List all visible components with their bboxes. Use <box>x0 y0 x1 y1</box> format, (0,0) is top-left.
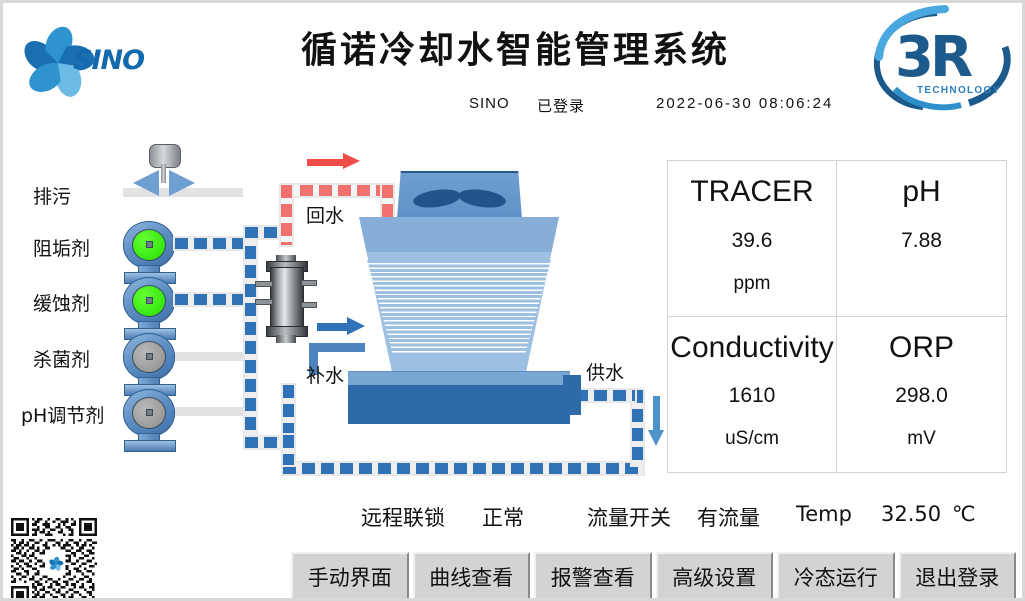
metric-unit: ppm <box>734 273 771 295</box>
dosing-line-scale <box>173 236 247 251</box>
valve-right-wing-icon <box>169 170 195 196</box>
application-window: SINO 循诺冷却水智能管理系统 SINO 已登录 2022-06-30 08:… <box>0 0 1025 601</box>
metric-name: pH <box>902 175 940 210</box>
label-makeup-water: 补水 <box>306 361 344 388</box>
metric-value: 1610 <box>729 384 776 408</box>
circuit-left-riser <box>243 225 258 439</box>
hx-bottom-stub-icon <box>276 335 296 343</box>
button-alarm-view[interactable]: 报警查看 <box>534 552 652 601</box>
temp-label: Temp <box>796 502 852 526</box>
return-line-top <box>279 183 395 198</box>
label-ph-adjuster: pH调节剂 <box>21 401 104 428</box>
button-manual-interface[interactable]: 手动界面 <box>291 552 409 601</box>
button-advanced-settings[interactable]: 高级设置 <box>656 552 774 601</box>
metric-value: 39.6 <box>732 229 773 253</box>
bottom-button-bar: 手动界面 曲线查看 报警查看 高级设置 冷态运行 退出登录 <box>291 552 1016 601</box>
metric-card-orp: ORP 298.0 mV <box>837 317 1006 473</box>
heat-exchanger[interactable] <box>261 255 311 345</box>
header-datetime: 2022-06-30 08:06:24 <box>656 95 833 112</box>
dosing-line-corrosion <box>173 292 247 307</box>
qr-center-logo <box>46 554 65 573</box>
status-bar: 远程联锁 正常 流量开关 有流量 Temp 32.50 ℃ <box>3 499 1025 535</box>
metric-unit: mV <box>907 428 936 450</box>
qr-code <box>8 518 100 601</box>
header-login-state: 已登录 <box>537 95 585 116</box>
pump-corrosion-inhibitor[interactable] <box>123 277 179 333</box>
label-supply-water: 供水 <box>586 358 624 385</box>
pump-base-icon <box>124 440 176 452</box>
metric-card-tracer: TRACER 39.6 ppm <box>668 161 837 317</box>
metric-value: 298.0 <box>895 384 948 408</box>
pump-biocide[interactable] <box>123 333 179 389</box>
valve-stem-icon <box>161 164 166 183</box>
pipe-biocide-run <box>171 352 246 361</box>
makeup-water-run-pipe <box>309 343 365 352</box>
metric-unit: uS/cm <box>725 428 779 450</box>
hx-shell-icon <box>270 267 304 331</box>
label-blowdown: 排污 <box>33 182 71 209</box>
remote-interlock-value: 正常 <box>482 502 524 532</box>
pump-ph-adjuster[interactable] <box>123 389 179 445</box>
circuit-bottom-run <box>281 461 645 476</box>
circuit-top-branch <box>243 225 283 240</box>
cooling-tower-basin <box>348 385 570 424</box>
metric-name: TRACER <box>690 175 813 210</box>
temp-value: 32.50 <box>881 502 941 526</box>
metric-card-ph: pH 7.88 <box>837 161 1006 317</box>
hx-nozzle-right-lower-icon <box>301 302 317 308</box>
label-return-water: 回水 <box>306 201 344 228</box>
pump-hub-icon <box>146 297 153 304</box>
pump-hub-icon <box>146 241 153 248</box>
valve-left-wing-icon <box>133 170 159 196</box>
blowdown-valve[interactable] <box>127 144 201 202</box>
pump-scale-inhibitor[interactable] <box>123 221 179 277</box>
pump-hub-icon <box>146 409 153 416</box>
3r-wordmark: 3R <box>895 25 969 90</box>
remote-interlock-label: 远程联锁 <box>361 502 445 532</box>
flow-switch-label: 流量开关 <box>587 502 671 532</box>
measurement-panel: TRACER 39.6 ppm pH 7.88 Conductivity 161… <box>667 160 1007 473</box>
metric-name: ORP <box>889 331 954 366</box>
return-line-down-left <box>279 183 294 247</box>
flow-switch-value: 有流量 <box>697 502 760 532</box>
pump-hub-icon <box>146 353 153 360</box>
label-biocide: 杀菌剂 <box>33 345 90 372</box>
3r-technology-logo: 3R TECHNOLOGY <box>865 5 1023 117</box>
hx-nozzle-left-upper-icon <box>255 281 273 287</box>
supply-water-basin-outlet <box>563 375 581 415</box>
metric-card-conductivity: Conductivity 1610 uS/cm <box>668 317 837 473</box>
circuit-bottom-left-elbow <box>281 433 296 467</box>
header-username: SINO <box>469 95 510 112</box>
hx-nozzle-left-lower-icon <box>255 299 273 305</box>
button-logout[interactable]: 退出登录 <box>899 552 1017 601</box>
label-scale-inhibitor: 阻垢剂 <box>33 234 90 261</box>
pipe-ph-run <box>171 407 246 416</box>
hx-nozzle-right-upper-icon <box>301 280 317 286</box>
temp-unit: ℃ <box>952 502 976 526</box>
cooling-tower-basin-rim <box>348 371 570 386</box>
metric-name: Conductivity <box>670 331 833 366</box>
circuit-supply-run <box>573 388 637 403</box>
3r-tagline: TECHNOLOGY <box>917 85 1001 96</box>
metric-value: 7.88 <box>901 229 942 253</box>
button-curve-view[interactable]: 曲线查看 <box>413 552 531 601</box>
label-corrosion-inhibitor: 缓蚀剂 <box>33 289 90 316</box>
button-cold-start[interactable]: 冷态运行 <box>777 552 895 601</box>
